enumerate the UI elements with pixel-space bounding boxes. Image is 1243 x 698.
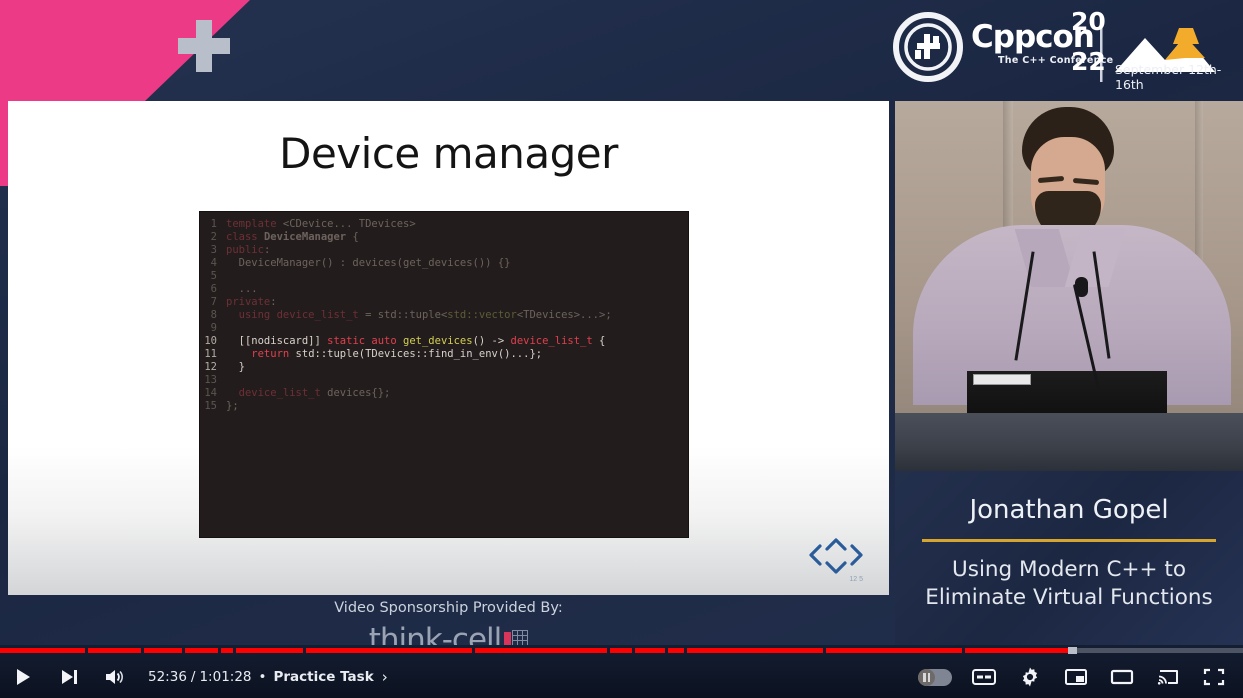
- code-token: device_list_t: [511, 335, 593, 348]
- cppcon-logo-bar: Cppcon The C++ Conference 20 22 Septembe…: [893, 0, 1243, 98]
- code-token: using: [226, 309, 277, 322]
- progress-fill: [965, 648, 1072, 653]
- settings-button[interactable]: [1007, 659, 1053, 695]
- code-token: DeviceManager: [264, 231, 346, 244]
- code-line: 14 device_list_t devices{};: [200, 387, 688, 400]
- code-line-number: 11: [200, 348, 226, 361]
- controls-right: [909, 659, 1237, 695]
- code-line-number: 15: [200, 400, 226, 413]
- code-line-number: 3: [200, 244, 226, 257]
- cast-button[interactable]: [1145, 659, 1191, 695]
- sponsor-label: Video Sponsorship Provided By:: [8, 600, 889, 616]
- chapter-chevron-icon[interactable]: ›: [382, 668, 388, 686]
- progress-fill: [687, 648, 823, 653]
- controls-left: 52:36 / 1:01:28 • Practice Task ›: [0, 659, 388, 695]
- code-line: 9: [200, 322, 688, 335]
- thinkcell-mark-icon: [504, 630, 528, 645]
- plus-icon: [178, 20, 230, 72]
- code-token: std::tuple(TDevices::find_in_env()...};: [296, 348, 543, 361]
- progress-segment[interactable]: [306, 648, 472, 653]
- progress-segment[interactable]: [0, 648, 85, 653]
- code-token: ...: [226, 283, 258, 296]
- code-line: 11 return std::tuple(TDevices::find_in_e…: [200, 348, 688, 361]
- progress-segment[interactable]: [236, 648, 303, 653]
- fullscreen-button[interactable]: [1191, 659, 1237, 695]
- code-line-number: 6: [200, 283, 226, 296]
- cppcon-year-bottom: 22: [1071, 47, 1106, 76]
- progress-segment[interactable]: [668, 648, 684, 653]
- sponsor-logo-text: think-cell: [369, 622, 502, 645]
- code-block: 1template <CDevice... TDevices>2class De…: [199, 211, 689, 538]
- duration: 1:01:28: [199, 669, 251, 685]
- slide-navigation-icon[interactable]: 12 5: [805, 533, 867, 585]
- autoplay-toggle[interactable]: [909, 659, 961, 695]
- progress-fill: [185, 648, 218, 653]
- code-token: () ->: [473, 335, 511, 348]
- slide-title: Device manager: [8, 129, 889, 178]
- speaker-panel: Jonathan Gopel Using Modern C++ to Elimi…: [895, 101, 1243, 645]
- code-token: devices{};: [321, 387, 391, 400]
- code-token: device_list_t: [277, 309, 359, 322]
- progress-segment[interactable]: [635, 648, 665, 653]
- progress-bar[interactable]: [0, 648, 1243, 653]
- code-token: device_list_t: [226, 387, 321, 400]
- code-line-number: 12: [200, 361, 226, 374]
- code-line: 6 ...: [200, 283, 688, 296]
- next-video-button[interactable]: [46, 659, 92, 695]
- code-line: 4 DeviceManager() : devices(get_devices(…: [200, 257, 688, 270]
- bullet-separator: •: [259, 669, 267, 685]
- chapter-title[interactable]: Practice Task: [273, 669, 373, 685]
- volume-button[interactable]: [92, 659, 138, 695]
- autoplay-pause-icon: [918, 669, 935, 686]
- progress-fill: [668, 648, 684, 653]
- speaker-name: Jonathan Gopel: [895, 495, 1243, 525]
- code-token: = std::tuple<: [359, 309, 448, 322]
- code-line-number: 14: [200, 387, 226, 400]
- code-token: :: [264, 244, 270, 257]
- progress-segment[interactable]: [88, 648, 141, 653]
- code-token: DeviceManager() : devices(get_devices())…: [226, 257, 510, 270]
- decorative-pink-strip: [0, 100, 8, 186]
- code-token: :: [270, 296, 276, 309]
- progress-playhead[interactable]: [1068, 647, 1077, 654]
- code-line-number: 8: [200, 309, 226, 322]
- code-line: 10 [[nodiscard]] static auto get_devices…: [200, 335, 688, 348]
- cppcon-logo-mark: [896, 15, 960, 79]
- progress-fill: [475, 648, 607, 653]
- progress-segment[interactable]: [475, 648, 607, 653]
- code-line: 15};: [200, 400, 688, 413]
- progress-segment[interactable]: [687, 648, 823, 653]
- progress-fill: [0, 648, 85, 653]
- miniplayer-button[interactable]: [1053, 659, 1099, 695]
- progress-segment[interactable]: [185, 648, 218, 653]
- sponsor-logo: think-cell: [369, 622, 529, 645]
- progress-segment[interactable]: [826, 648, 962, 653]
- code-line: 8 using device_list_t = std::tuple<std::…: [200, 309, 688, 322]
- video-player: Cppcon The C++ Conference 20 22 Septembe…: [0, 0, 1243, 698]
- cppcon-dates: September 12th-16th: [1115, 62, 1243, 92]
- code-token: get_devices: [403, 335, 473, 348]
- code-line: 3public:: [200, 244, 688, 257]
- code-token: {: [346, 231, 359, 244]
- code-token: return: [226, 348, 296, 361]
- video-canvas[interactable]: Cppcon The C++ Conference 20 22 Septembe…: [0, 0, 1243, 645]
- speaker-camera-feed: [895, 101, 1243, 471]
- code-line-number: 2: [200, 231, 226, 244]
- progress-segment[interactable]: [144, 648, 182, 653]
- code-line: 7private:: [200, 296, 688, 309]
- current-time: 52:36: [148, 669, 187, 685]
- time-separator: /: [191, 669, 196, 685]
- sponsor-block: Video Sponsorship Provided By: think-cel…: [8, 600, 889, 645]
- timecode: 52:36 / 1:01:28 • Practice Task ›: [148, 668, 388, 686]
- code-token: class: [226, 231, 264, 244]
- cppcon-year-top: 20: [1071, 7, 1106, 36]
- theater-button[interactable]: [1099, 659, 1145, 695]
- progress-fill: [221, 648, 233, 653]
- code-line: 12 }: [200, 361, 688, 374]
- code-token: <CDevice... TDevices>: [283, 218, 416, 231]
- progress-fill: [826, 648, 962, 653]
- progress-fill: [236, 648, 303, 653]
- code-line-number: 10: [200, 335, 226, 348]
- progress-fill: [635, 648, 665, 653]
- presentation-slide: Device manager 1template <CDevice... TDe…: [8, 101, 889, 595]
- code-token: <TDevices>...>;: [517, 309, 612, 322]
- progress-fill: [306, 648, 472, 653]
- progress-segment[interactable]: [610, 648, 632, 653]
- code-token: private: [226, 296, 270, 309]
- code-line-number: 13: [200, 374, 226, 387]
- progress-segment[interactable]: [965, 648, 1243, 653]
- code-token: static auto: [327, 335, 403, 348]
- code-line-number: 1: [200, 218, 226, 231]
- code-token: public: [226, 244, 264, 257]
- code-line-number: 9: [200, 322, 226, 335]
- talk-title: Using Modern C++ to Eliminate Virtual Fu…: [909, 556, 1229, 612]
- code-token: };: [226, 400, 239, 413]
- progress-fill: [88, 648, 141, 653]
- player-controls: 52:36 / 1:01:28 • Practice Task ›: [0, 645, 1243, 698]
- subtitles-button[interactable]: [961, 659, 1007, 695]
- code-token: {: [593, 335, 606, 348]
- code-token: template: [226, 218, 283, 231]
- code-token: std::vector: [447, 309, 517, 322]
- code-token: }: [226, 361, 245, 374]
- progress-fill: [144, 648, 182, 653]
- progress-segment[interactable]: [221, 648, 233, 653]
- play-button[interactable]: [0, 659, 46, 695]
- code-line: 2class DeviceManager {: [200, 231, 688, 244]
- code-line: 5: [200, 270, 688, 283]
- speaker-divider: [922, 539, 1216, 542]
- code-line-number: 5: [200, 270, 226, 283]
- slide-page-marker: 12 5: [849, 576, 863, 583]
- code-token: [[nodiscard]]: [226, 335, 327, 348]
- speaker-info: Jonathan Gopel Using Modern C++ to Elimi…: [895, 471, 1243, 645]
- code-line-number: 4: [200, 257, 226, 270]
- code-line: 1template <CDevice... TDevices>: [200, 218, 688, 231]
- progress-fill: [610, 648, 632, 653]
- code-line: 13: [200, 374, 688, 387]
- code-line-number: 7: [200, 296, 226, 309]
